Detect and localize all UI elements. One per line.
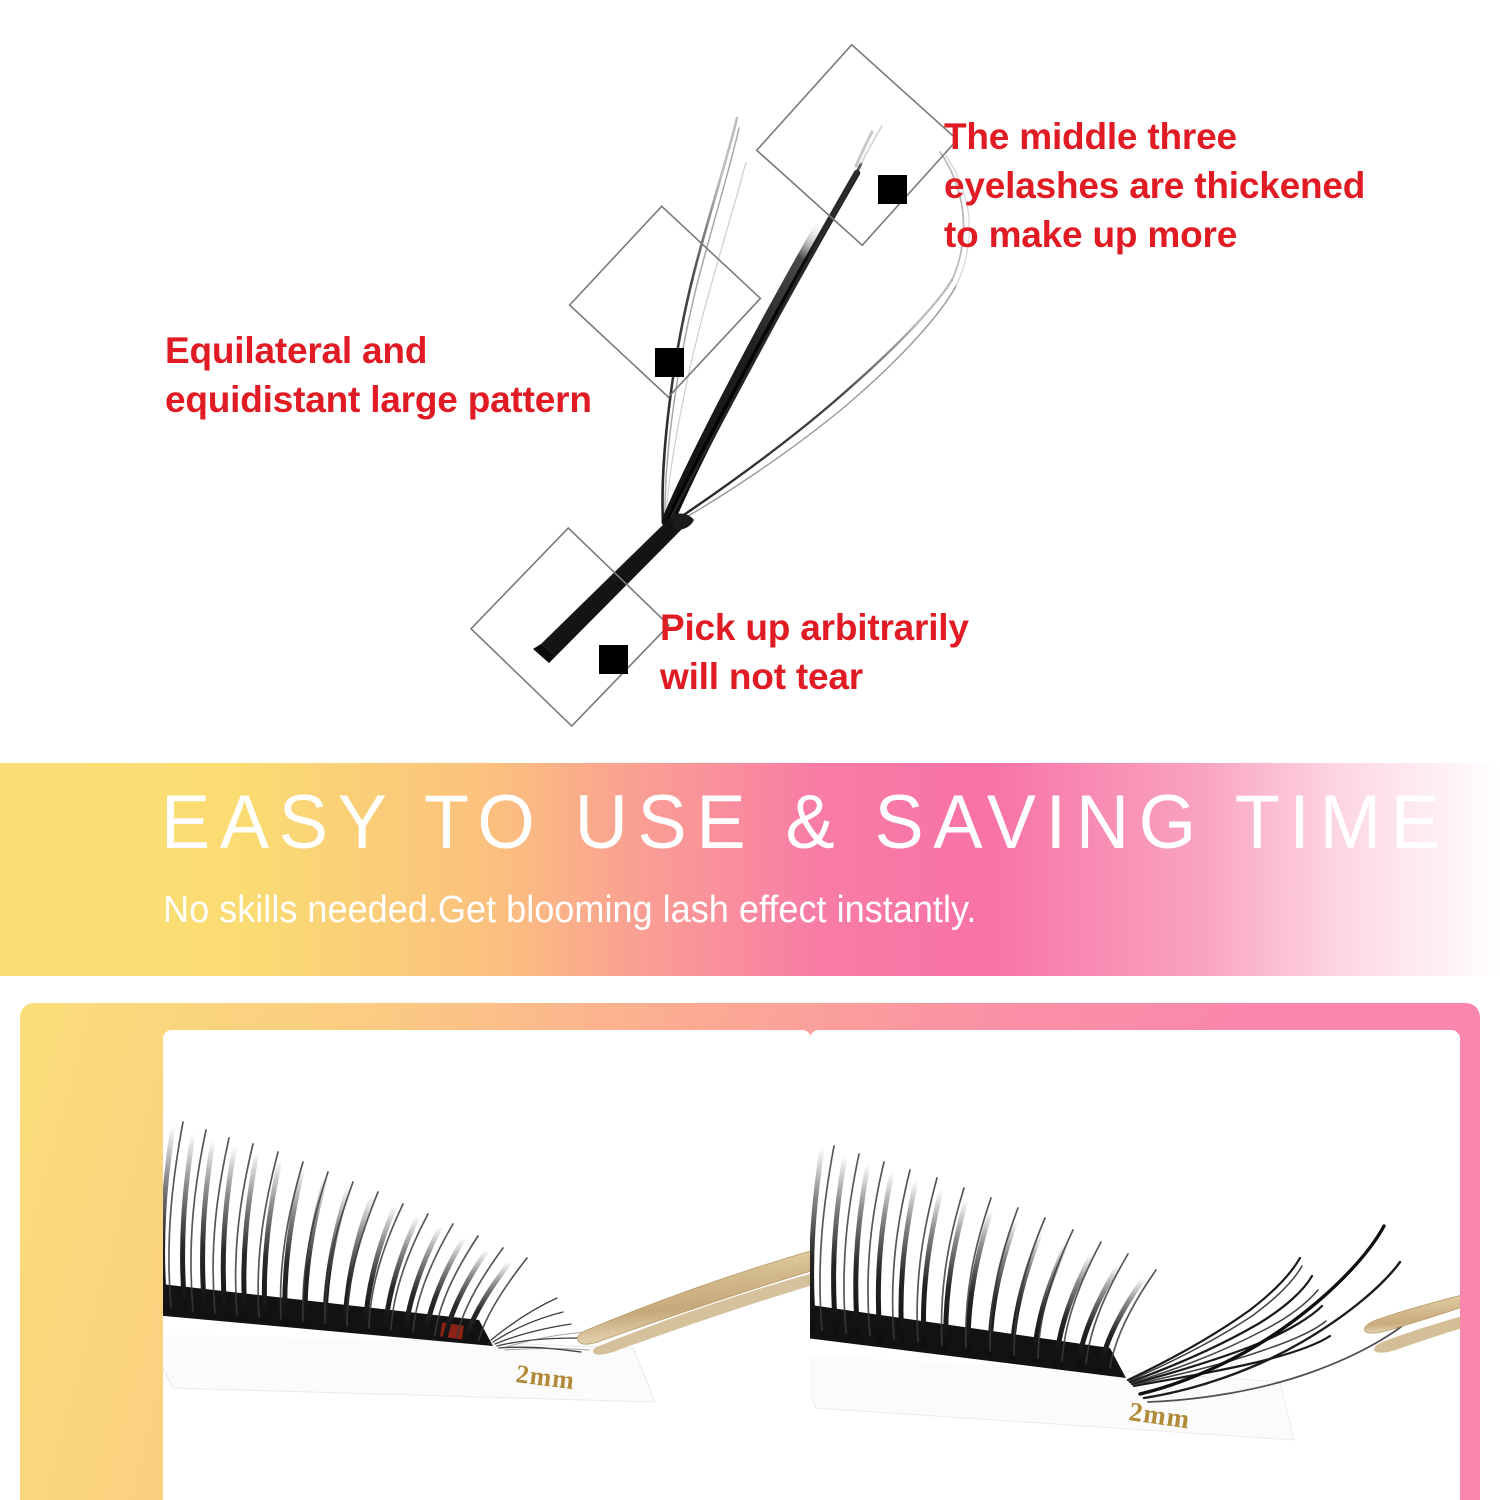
photo-lash-fan-pickup-image: 2mm xyxy=(810,1030,1460,1500)
callout-marker-top-right xyxy=(757,45,958,246)
lash-fiber-group-left xyxy=(663,118,746,523)
photo-lash-tray-with-tweezer-image: 2mm xyxy=(163,1030,811,1500)
gradient-banner-section: EASY TO USE & SAVING TIME No skills need… xyxy=(0,763,1500,976)
callout-label-pick-up-no-tear: Pick up arbitrarily will not tear xyxy=(660,604,969,702)
photo-card-lash-tray-with-tweezer: 2mm xyxy=(163,1030,811,1500)
callout-marker-middle-left xyxy=(570,206,761,397)
banner-headline: EASY TO USE & SAVING TIME xyxy=(161,785,1450,861)
product-photo-panel: 2mm xyxy=(20,1003,1480,1500)
callout-label-middle-three-thickened: The middle three eyelashes are thickened… xyxy=(944,113,1365,259)
callout-label-equilateral-equidistant: Equilateral and equidistant large patter… xyxy=(165,327,592,425)
photo-card-lash-fan-pickup: 2mm xyxy=(810,1030,1460,1500)
banner-subheadline: No skills needed.Get blooming lash effec… xyxy=(163,891,976,929)
diagram-section: The middle three eyelashes are thickened… xyxy=(0,0,1500,763)
